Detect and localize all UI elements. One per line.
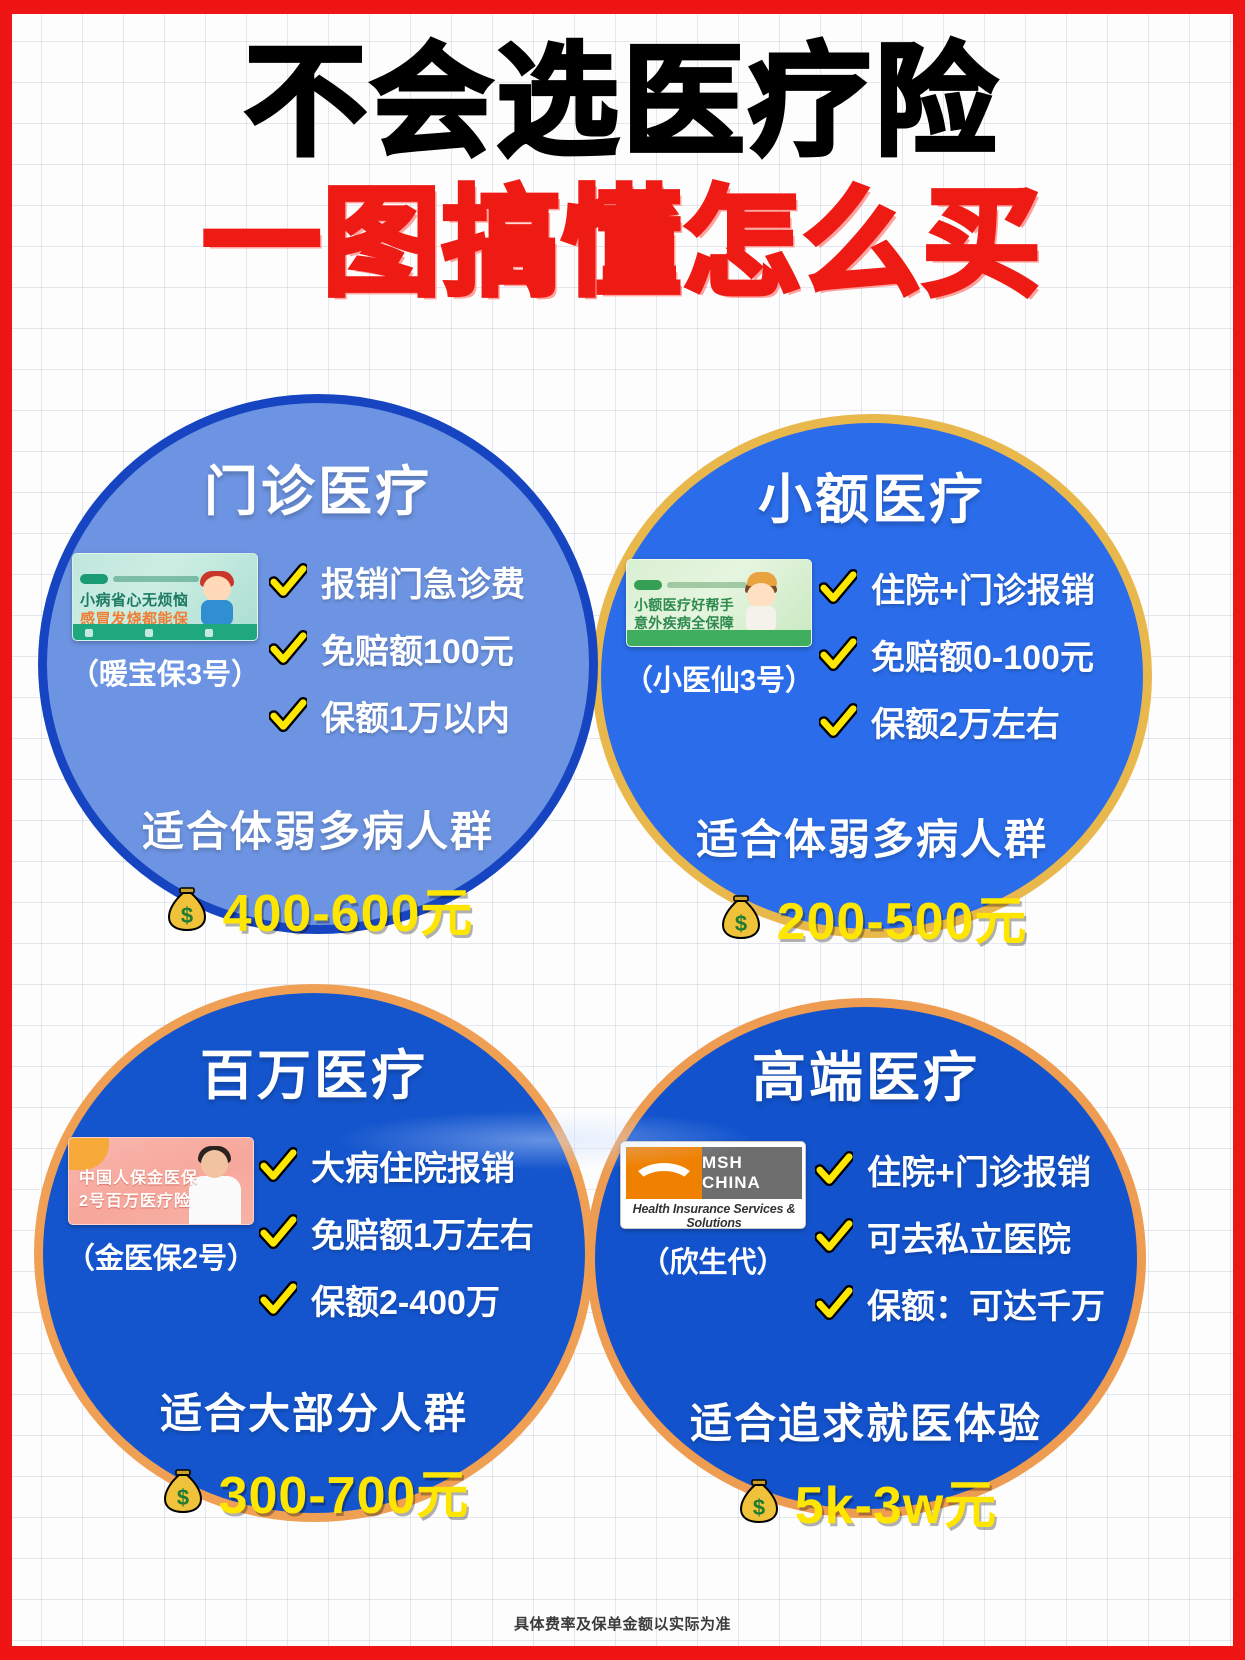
audience-label: 适合追求就医体验 [595, 1390, 1137, 1451]
product-thumbnail-block[interactable]: MSH CHINA Health Insurance Services & So… [605, 1141, 821, 1281]
product-caption: （小医仙3号） [624, 657, 814, 699]
svg-text:$: $ [180, 903, 192, 928]
product-thumbnail-image: 小病省心无烦恼 感冒发烧都能保 [72, 553, 258, 641]
price-label: 5k-3w元 [795, 1463, 998, 1538]
circle-title: 门诊医疗 [204, 465, 432, 519]
svg-text:$: $ [753, 1495, 765, 1520]
price-row: $ 5k-3w元 [595, 1463, 1137, 1538]
feature-item: 住院+门诊报销 [815, 1145, 1127, 1194]
feature-item: 可去私立医院 [815, 1212, 1127, 1261]
category-circle-small-amount[interactable]: 小额医疗 小额医疗好帮手 意外疾病全保障 （小医仙3号） 住院+门 [592, 414, 1152, 938]
circle-title: 小额医疗 [758, 473, 986, 527]
money-bag-icon: $ [163, 885, 211, 933]
check-icon [259, 1281, 297, 1319]
thumb-footer-bar [627, 630, 811, 646]
circle-title: 百万医疗 [200, 1049, 428, 1103]
circle-body: MSH CHINA Health Insurance Services & So… [595, 1141, 1137, 1328]
feature-list: 报销门急诊费 免赔额100元 保额1万以内 [269, 553, 579, 740]
feature-list: 住院+门诊报销 可去私立医院 保额：可达千万 [815, 1141, 1127, 1328]
circle-footer: 适合体弱多病人群 $ 400-600元 [47, 798, 589, 946]
product-caption: （金医保2号） [66, 1235, 256, 1277]
brand-tagline: Health Insurance Services & Solutions [626, 1202, 802, 1229]
circle-body: 小病省心无烦恼 感冒发烧都能保 （暖宝保3号） 报销门急诊费 [47, 553, 589, 740]
feature-item: 大病住院报销 [259, 1141, 575, 1190]
logo-orange-block [626, 1147, 702, 1199]
circle-body: 中国人保金医保 2号百万医疗险 （金医保2号） 大病住院报销 免赔额1万左右 [43, 1137, 585, 1324]
category-circle-million[interactable]: 百万医疗 中国人保金医保 2号百万医疗险 （金医保2号） 大病住院报销 [34, 984, 594, 1522]
check-icon [259, 1214, 297, 1252]
check-icon [819, 569, 857, 607]
audience-label: 适合体弱多病人群 [47, 798, 589, 859]
feature-item: 免赔额0-100元 [819, 630, 1133, 679]
svg-text:$: $ [176, 1485, 188, 1510]
product-thumbnail-image: 小额医疗好帮手 意外疾病全保障 [626, 559, 812, 647]
logo-gray-block: MSH CHINA [702, 1147, 802, 1199]
check-icon [269, 697, 307, 735]
product-caption: （暖宝保3号） [70, 651, 260, 693]
check-icon [269, 563, 307, 601]
badge-pill [634, 580, 662, 590]
arc-icon [630, 1163, 698, 1199]
circle-body: 小额医疗好帮手 意外疾病全保障 （小医仙3号） 住院+门诊报销 [601, 559, 1143, 746]
msh-china-logo: MSH CHINA Health Insurance Services & So… [620, 1141, 806, 1229]
thumb-subline [113, 576, 199, 582]
thumb-footer-bar [73, 624, 257, 640]
price-row: $ 300-700元 [43, 1453, 585, 1528]
feature-list: 大病住院报销 免赔额1万左右 保额2-400万 [259, 1137, 575, 1324]
feature-list: 住院+门诊报销 免赔额0-100元 保额2万左右 [819, 559, 1133, 746]
feature-label: 保额：可达千万 [867, 1279, 1105, 1328]
feature-label: 免赔额100元 [321, 624, 514, 673]
child-illustration [189, 570, 251, 630]
product-caption: （欣生代） [640, 1239, 785, 1281]
price-row: $ 200-500元 [601, 879, 1143, 954]
feature-item: 住院+门诊报销 [819, 563, 1133, 612]
badge-pill [80, 574, 108, 584]
feature-item: 保额2万左右 [819, 697, 1133, 746]
price-label: 400-600元 [223, 871, 474, 946]
feature-label: 免赔额1万左右 [311, 1208, 534, 1257]
check-icon [815, 1285, 853, 1323]
feature-label: 保额2-400万 [311, 1275, 500, 1324]
feature-item: 免赔额1万左右 [259, 1208, 575, 1257]
logo-row: MSH CHINA [626, 1147, 802, 1199]
child-illustration [733, 572, 789, 636]
thumb-headline-1: 小额医疗好帮手 [634, 595, 734, 615]
check-icon [269, 630, 307, 668]
audience-label: 适合体弱多病人群 [601, 806, 1143, 867]
circle-title: 高端医疗 [752, 1051, 980, 1105]
feature-label: 住院+门诊报销 [867, 1145, 1091, 1194]
thumb-headline-1: 小病省心无烦恼 [80, 589, 189, 610]
headline-line-1: 不会选医疗险 [0, 38, 1245, 167]
feature-label: 报销门急诊费 [321, 557, 525, 606]
feature-item: 保额：可达千万 [815, 1279, 1127, 1328]
feature-item: 保额1万以内 [269, 691, 579, 740]
circle-footer: 适合体弱多病人群 $ 200-500元 [601, 806, 1143, 954]
category-circle-outpatient[interactable]: 门诊医疗 小病省心无烦恼 感冒发烧都能保 （暖宝保3号） [38, 394, 598, 934]
audience-label: 适合大部分人群 [43, 1380, 585, 1441]
product-thumbnail-image: 中国人保金医保 2号百万医疗险 [68, 1137, 254, 1225]
feature-item: 保额2-400万 [259, 1275, 575, 1324]
brand-name: MSH CHINA [702, 1153, 802, 1193]
circle-footer: 适合大部分人群 $ 300-700元 [43, 1380, 585, 1528]
feature-item: 报销门急诊费 [269, 557, 579, 606]
red-frame-bottom [0, 1646, 1245, 1660]
feature-label: 住院+门诊报销 [871, 563, 1095, 612]
category-circle-premium[interactable]: 高端医疗 MSH CHINA Health Insurance Services… [586, 998, 1146, 1518]
headline-line-2: 一图搞懂怎么买 [0, 181, 1245, 308]
money-bag-icon: $ [717, 893, 765, 941]
check-icon [819, 703, 857, 741]
thumb-headline-1: 中国人保金医保 [79, 1164, 198, 1188]
red-frame-top [0, 0, 1245, 14]
money-bag-icon: $ [159, 1467, 207, 1515]
price-row: $ 400-600元 [47, 871, 589, 946]
headline-block: 不会选医疗险 一图搞懂怎么买 [0, 38, 1245, 309]
product-thumbnail-block[interactable]: 小额医疗好帮手 意外疾病全保障 （小医仙3号） [611, 559, 827, 699]
price-label: 200-500元 [777, 879, 1028, 954]
feature-label: 免赔额0-100元 [871, 630, 1094, 679]
check-icon [815, 1218, 853, 1256]
product-thumbnail-block[interactable]: 小病省心无烦恼 感冒发烧都能保 （暖宝保3号） [57, 553, 273, 693]
check-icon [815, 1151, 853, 1189]
feature-label: 可去私立医院 [867, 1212, 1071, 1261]
feature-label: 保额2万左右 [871, 697, 1060, 746]
price-label: 300-700元 [219, 1453, 470, 1528]
thumb-headline-2: 2号百万医疗险 [79, 1187, 191, 1211]
feature-item: 免赔额100元 [269, 624, 579, 673]
product-thumbnail-block[interactable]: 中国人保金医保 2号百万医疗险 （金医保2号） [53, 1137, 269, 1277]
feature-label: 保额1万以内 [321, 691, 510, 740]
disclaimer-text: 具体费率及保单金额以实际为准 [0, 1613, 1245, 1634]
circle-footer: 适合追求就医体验 $ 5k-3w元 [595, 1390, 1137, 1538]
feature-label: 大病住院报销 [311, 1141, 515, 1190]
svg-text:$: $ [734, 911, 746, 936]
check-icon [819, 636, 857, 674]
money-bag-icon: $ [735, 1477, 783, 1525]
check-icon [259, 1147, 297, 1185]
